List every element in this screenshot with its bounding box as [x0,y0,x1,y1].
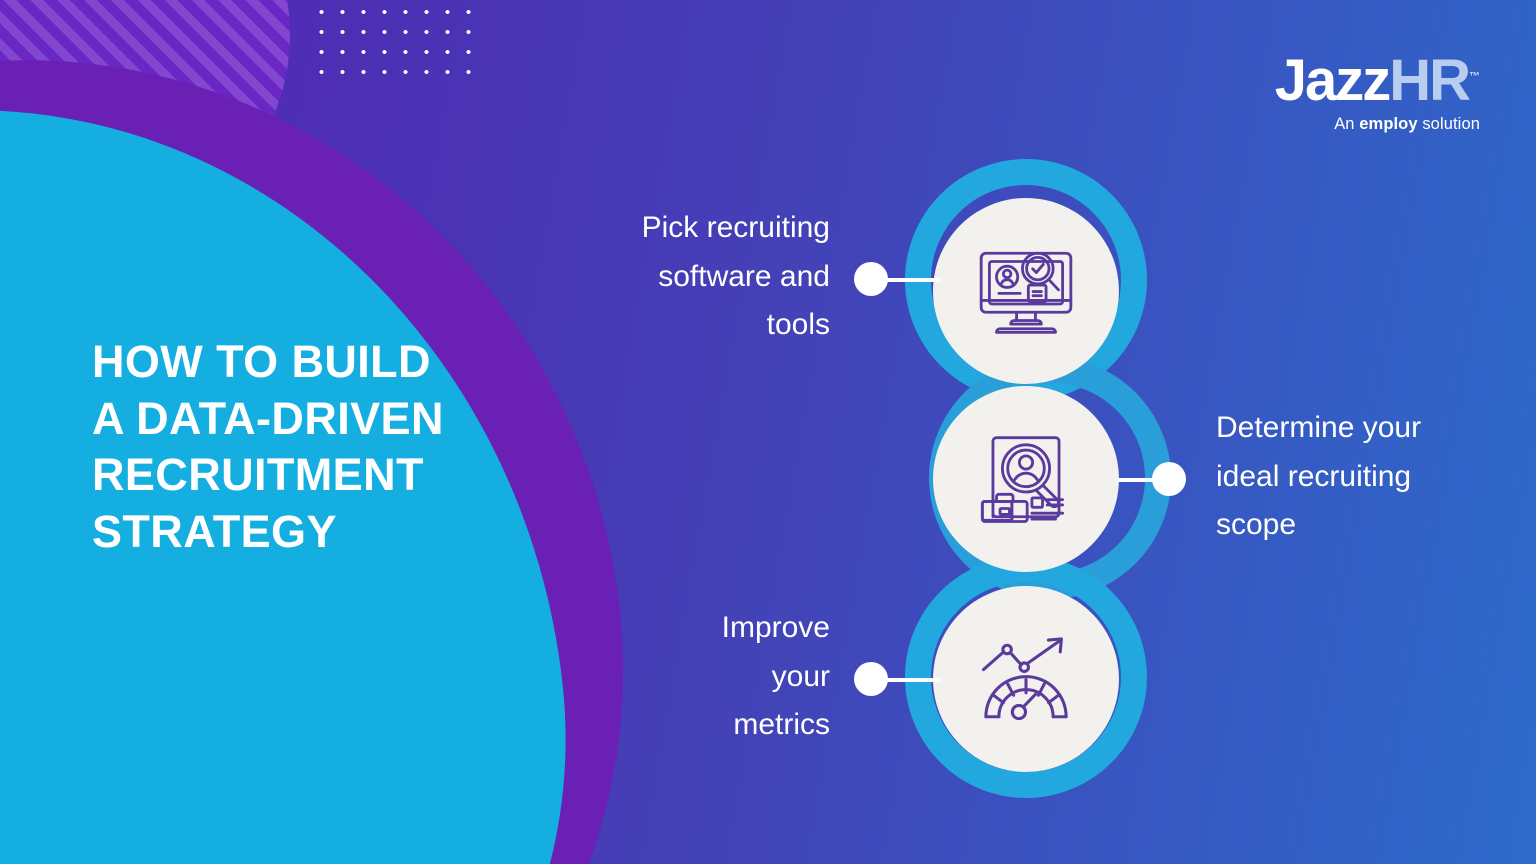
monitor-search-check-icon [967,232,1085,350]
step-3-connector-line [882,678,940,682]
step-2-connector-dot [1152,462,1186,496]
step-1-connector-dot [854,262,888,296]
step-1-icon-circle [933,198,1119,384]
step-3-label: Improve your metrics [600,604,830,750]
step-2-label: Determine your ideal recruiting scope [1216,404,1516,550]
step-3-icon-circle [933,586,1119,772]
step-1-connector-line [882,278,940,282]
resume-magnifier-briefcase-icon [967,420,1085,538]
step-1-label: Pick recruiting software and tools [540,204,830,350]
gauge-trend-icon [967,620,1085,738]
step-2-icon-circle [933,386,1119,572]
step-3-connector-dot [854,662,888,696]
steps-diagram: Pick recruiting software and tools [0,0,1536,864]
infographic-canvas: How to build a data-driven recruitment s… [0,0,1536,864]
